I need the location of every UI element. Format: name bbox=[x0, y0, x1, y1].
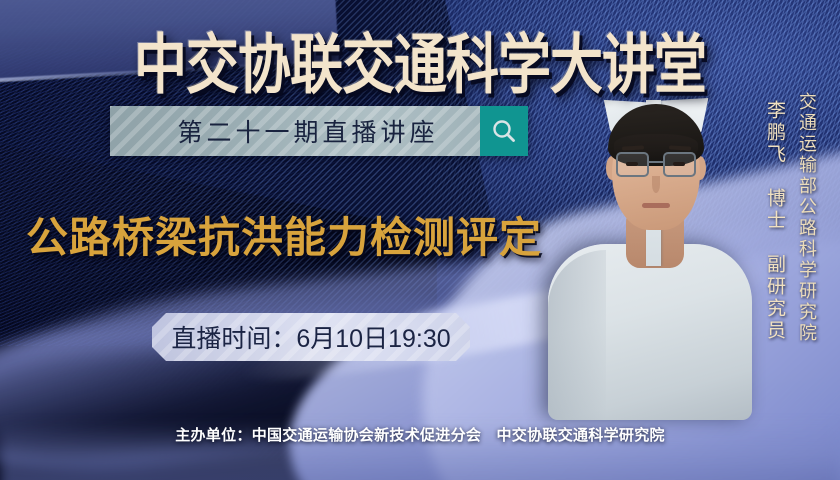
lecture-title-text: 公路桥梁抗洪能力检测评定 bbox=[26, 213, 542, 262]
speaker-organization: 交通运输部公路科学研究院 bbox=[794, 92, 820, 344]
live-time-badge: 直播时间：6月10日19:30 bbox=[152, 313, 470, 361]
speaker-shirt bbox=[548, 244, 752, 420]
glasses-icon-bridge bbox=[649, 161, 663, 163]
speaker-name-line: 李鹏飞 博士 副研究员 bbox=[761, 100, 788, 342]
search-icon bbox=[490, 117, 518, 145]
brand-title-text: 中交协联交通科学大讲堂 bbox=[130, 14, 710, 107]
lecture-poster: 中交协联交通科学大讲堂 第二十一期直播讲座 公路桥梁抗洪能力检测评定 直播时间：… bbox=[0, 0, 840, 480]
speaker-eye-right bbox=[673, 162, 685, 166]
speaker-mouth bbox=[642, 203, 670, 208]
footer-organizers: 主办单位：中国交通运输协会新技术促进分会 中交协联交通科学研究院 bbox=[0, 424, 840, 445]
lecture-title: 公路桥梁抗洪能力检测评定 bbox=[26, 204, 542, 265]
brand-title: 中交协联交通科学大讲堂 bbox=[0, 14, 840, 90]
search-button[interactable] bbox=[480, 106, 528, 156]
speaker-eye-left bbox=[626, 162, 638, 166]
footer-organizers-text: 主办单位：中国交通运输协会新技术促进分会 中交协联交通科学研究院 bbox=[175, 424, 665, 445]
session-search-bar[interactable]: 第二十一期直播讲座 bbox=[110, 106, 528, 156]
speaker-portrait bbox=[554, 90, 744, 420]
session-search-field[interactable]: 第二十一期直播讲座 bbox=[110, 106, 480, 156]
live-time-text: 直播时间：6月10日19:30 bbox=[171, 319, 450, 355]
speaker-nose bbox=[652, 176, 660, 193]
session-label: 第二十一期直播讲座 bbox=[151, 113, 438, 149]
